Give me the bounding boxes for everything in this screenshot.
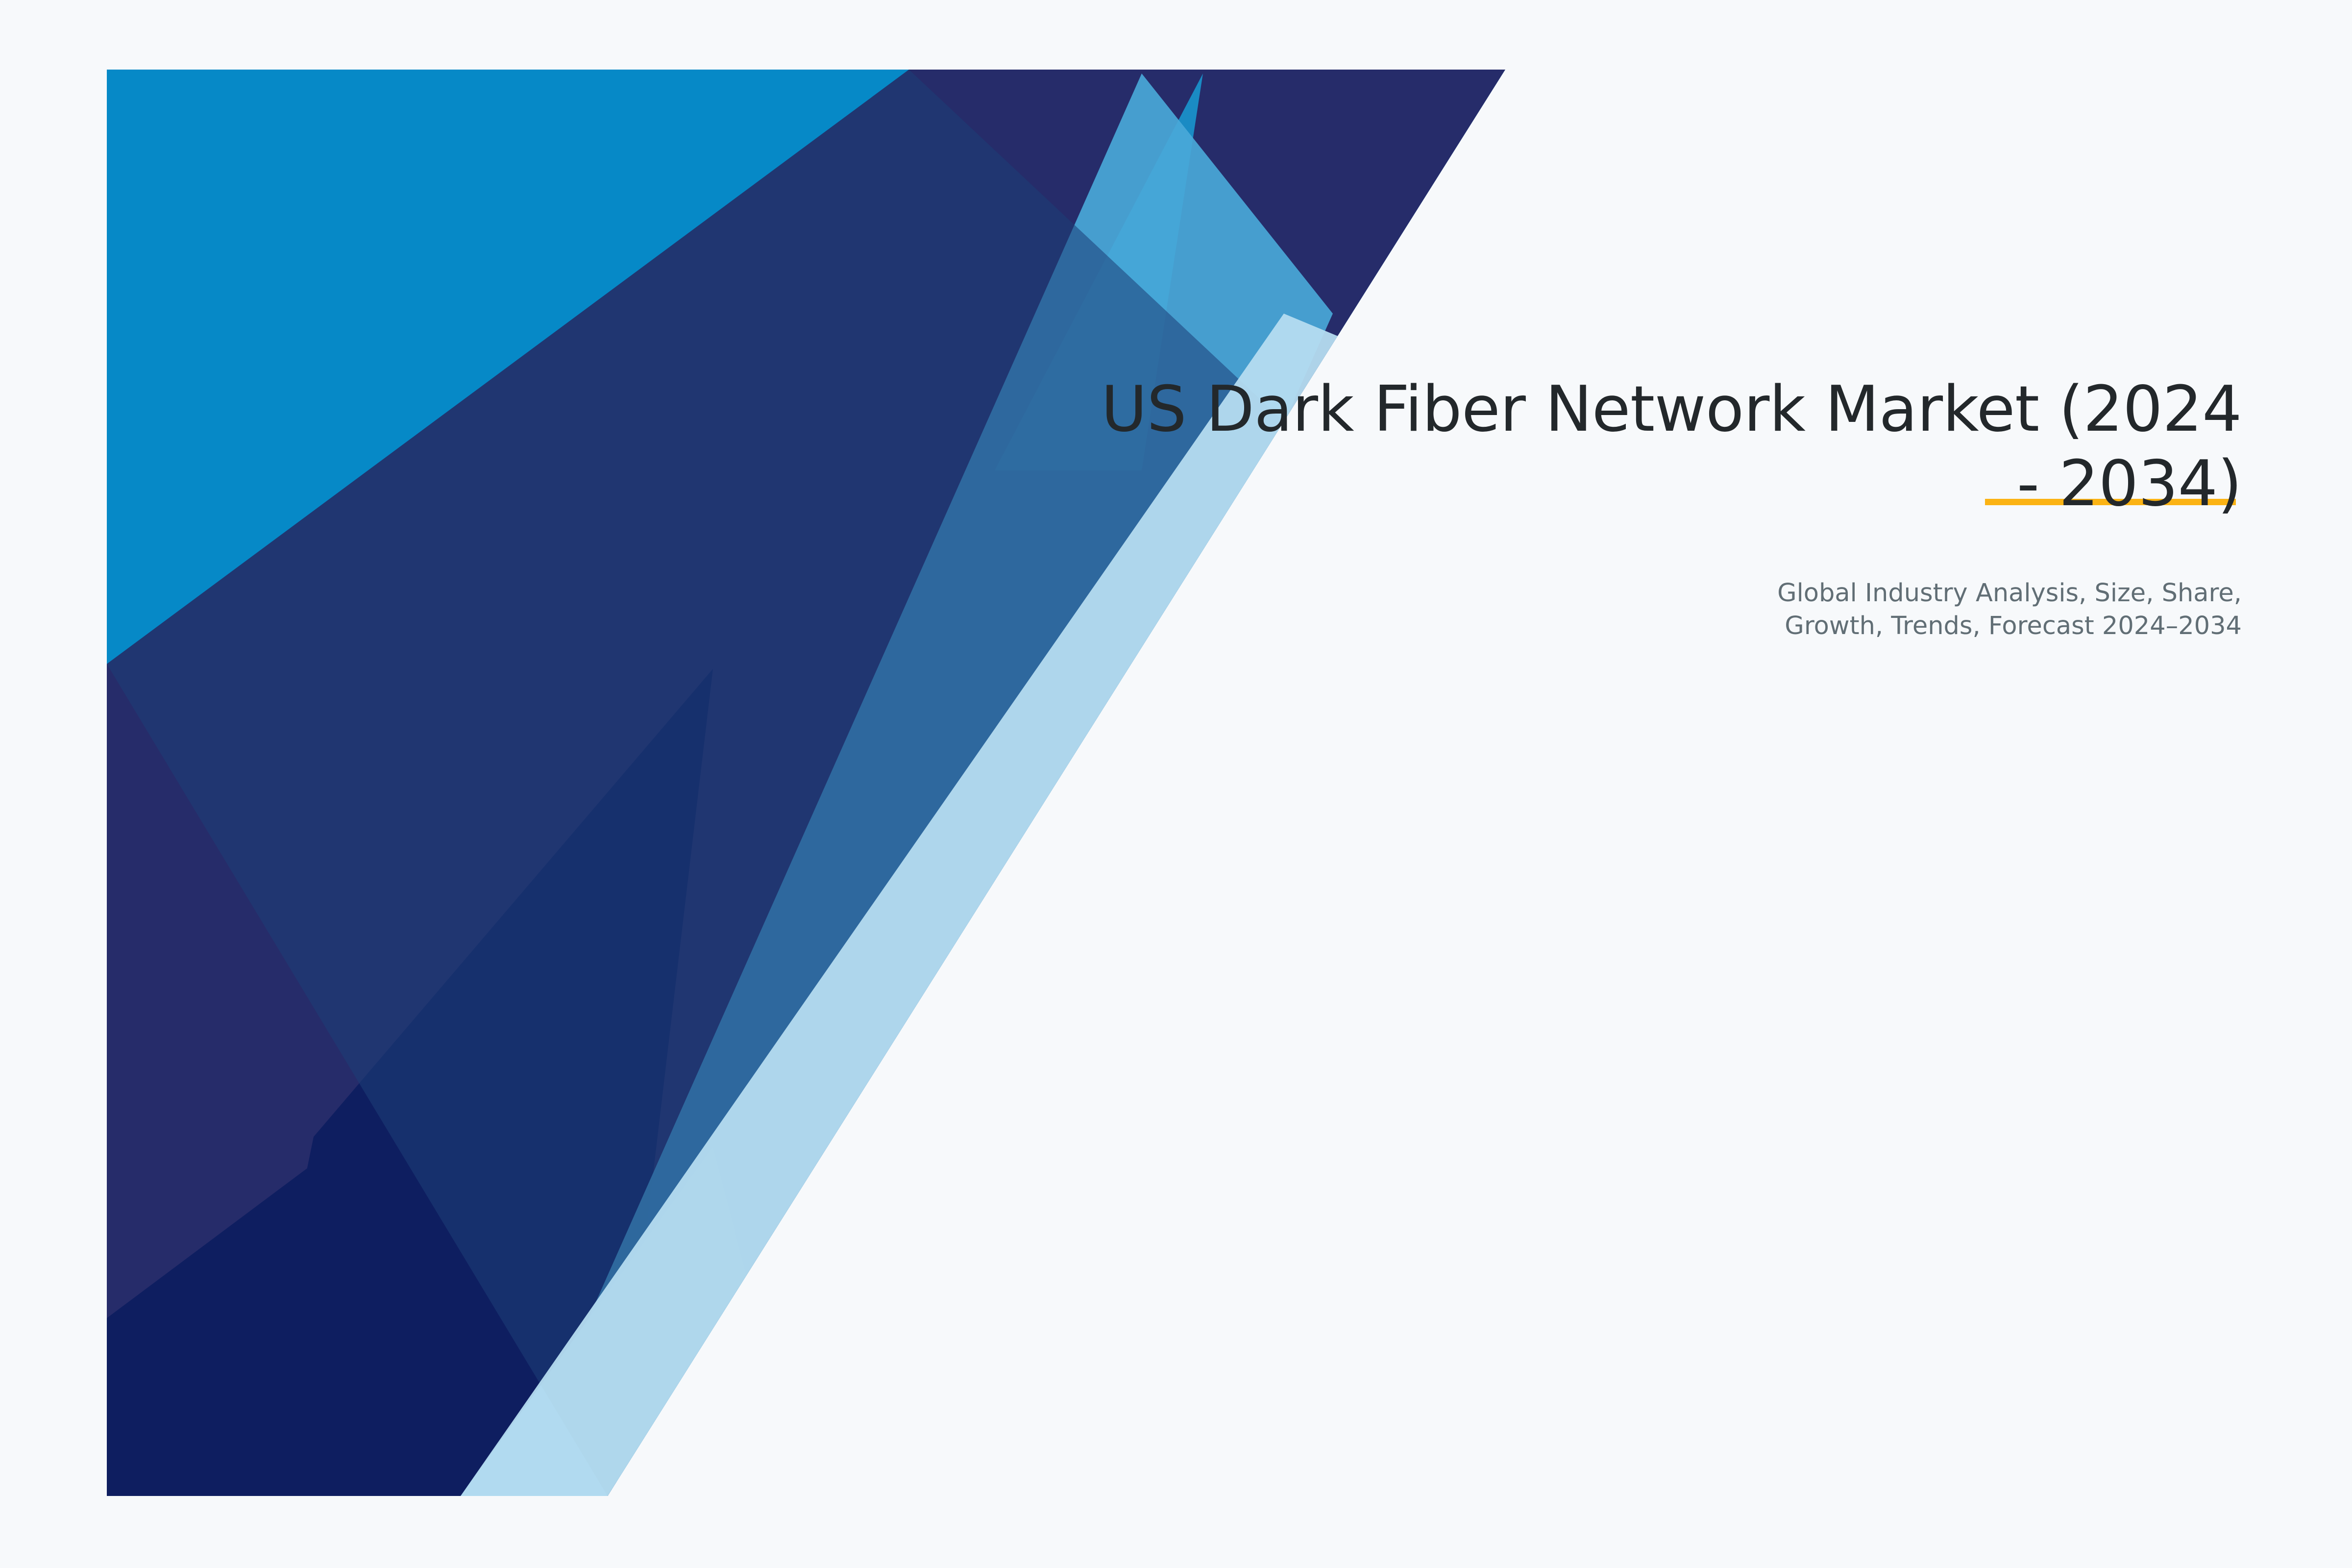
report-cover-page: US Dark Fiber Network Market (2024 - 203… — [0, 0, 2352, 1568]
cover-text-block: US Dark Fiber Network Market (2024 - 203… — [821, 372, 2242, 643]
shape-navy-upper-right — [909, 70, 1505, 421]
shape-slate-blue-overlay — [107, 70, 1284, 1496]
shape-dark-navy-lower — [240, 669, 713, 1496]
page-subtitle: Global Industry Analysis, Size, Share, G… — [821, 577, 2242, 643]
abstract-polygon-cover-graphic — [0, 0, 2352, 1568]
shape-navy-wedge — [107, 70, 1505, 1496]
shape-bright-blue-base — [107, 70, 1508, 1500]
title-wrapper: US Dark Fiber Network Market (2024 - 203… — [821, 372, 2242, 522]
page-title: US Dark Fiber Network Market (2024 - 203… — [821, 372, 2242, 522]
shape-dark-navy-bottom — [107, 1076, 615, 1496]
shape-light-blue-column — [510, 73, 1333, 1496]
shape-light-blue-lower — [461, 1147, 804, 1496]
